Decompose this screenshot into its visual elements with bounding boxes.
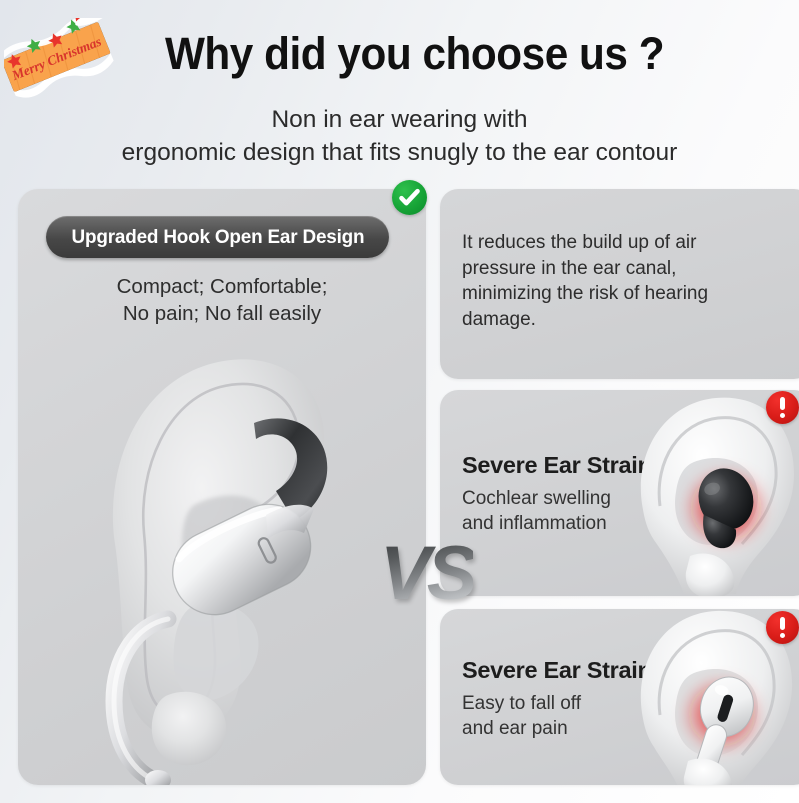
red-warning-badge-cochlear [766, 391, 799, 424]
header: Merry Christmas Why did you choose us ? … [0, 0, 799, 178]
red-warning-badge-falloff [766, 611, 799, 644]
ear-inflammation-black-earbud-illustration [598, 390, 799, 596]
air-pressure-line-1: It reduces the build up of air [462, 230, 752, 256]
exclamation-icon [780, 397, 785, 418]
page-subtitle: Non in ear wearing with ergonomic design… [0, 103, 799, 169]
air-pressure-text: It reduces the build up of air pressure … [462, 230, 752, 332]
panel-upgraded-hook-design: Upgraded Hook Open Ear Design Compact; C… [18, 189, 426, 785]
subtitle-line-1: Non in ear wearing with [0, 103, 799, 136]
exclamation-icon [780, 617, 785, 638]
vs-label: VS [380, 536, 473, 612]
green-check-badge [392, 180, 427, 215]
panel-fall-off-pain: Severe Ear Strain Easy to fall off and e… [440, 609, 799, 785]
page-title: Why did you choose us ? [24, 28, 775, 80]
panel-cochlear-swelling: Severe Ear Strain Cochlear swelling and … [440, 390, 799, 596]
air-pressure-line-2: pressure in the ear canal, [462, 256, 752, 282]
check-icon [402, 191, 418, 203]
upgraded-hook-design-pill: Upgraded Hook Open Ear Design [46, 216, 389, 258]
subtitle-line-2: ergonomic design that fits snugly to the… [0, 136, 799, 169]
benefit-line-1: Compact; Comfortable; [18, 273, 426, 300]
hook-earbud-on-ear-illustration [18, 319, 426, 785]
air-pressure-line-3: minimizing the risk of hearing [462, 281, 752, 307]
panel-air-pressure: It reduces the build up of air pressure … [440, 189, 799, 379]
product-infographic: Merry Christmas Why did you choose us ? … [0, 0, 799, 803]
pill-label: Upgraded Hook Open Ear Design [71, 226, 364, 249]
air-pressure-line-4: damage. [462, 307, 752, 333]
